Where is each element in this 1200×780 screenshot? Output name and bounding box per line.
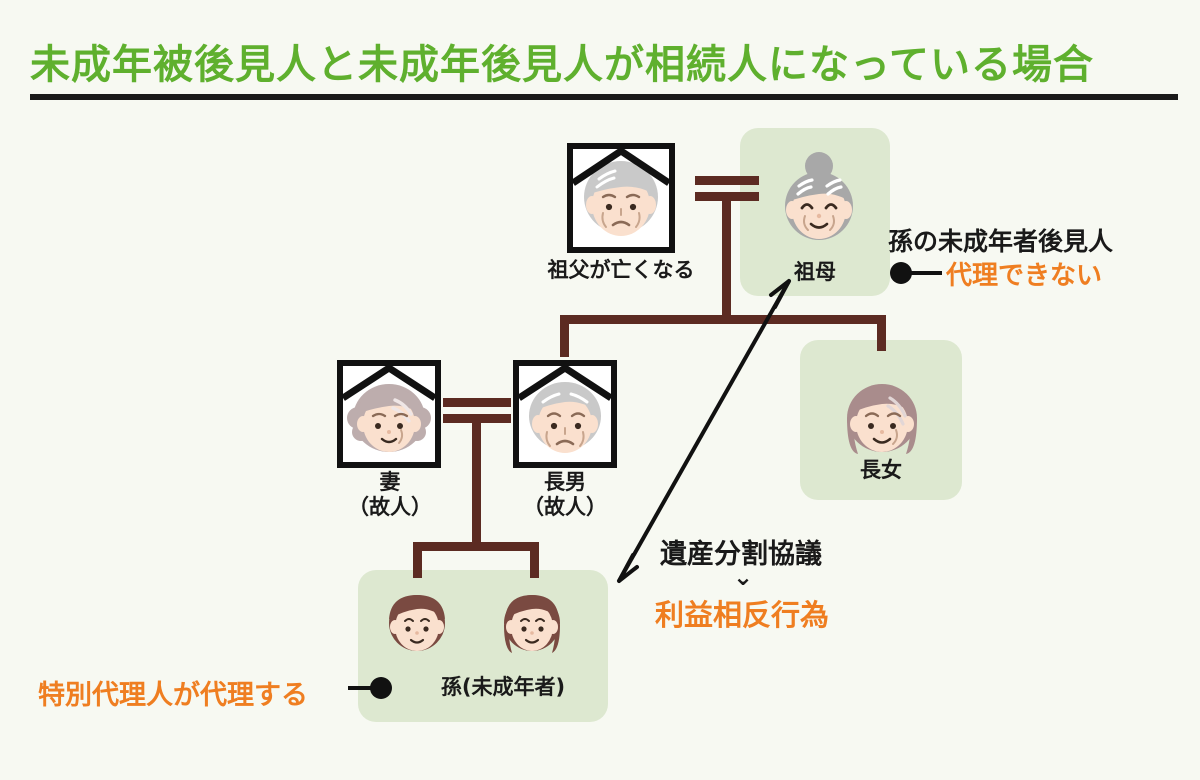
marriage-bar-mid-upper bbox=[443, 398, 511, 407]
division-chevron-icon: ⌄ bbox=[733, 563, 753, 591]
drop-to-granddaughter bbox=[530, 542, 539, 578]
portrait-grandfather bbox=[567, 143, 675, 253]
label-wife-name: 妻 bbox=[380, 470, 401, 494]
portrait-grandson bbox=[381, 583, 453, 659]
drop-to-grandson bbox=[413, 542, 422, 578]
label-wife: 妻 （故人） bbox=[320, 470, 460, 520]
label-eldest-son-name: 長男 bbox=[544, 470, 586, 494]
guardian-title: 孫の未成年者後見人 bbox=[888, 222, 1113, 258]
guardian-leader-line bbox=[910, 271, 942, 275]
portrait-grandmother bbox=[773, 150, 865, 250]
guardian-result: 代理できない bbox=[946, 255, 1102, 292]
drop-to-eldest-daughter bbox=[877, 315, 886, 351]
descent-line-mid bbox=[472, 414, 481, 542]
page-title: 未成年被後見人と未成年後見人が相続人になっている場合 bbox=[30, 32, 1094, 90]
guardian-leader-dot bbox=[890, 262, 912, 284]
label-eldest-daughter: 長女 bbox=[800, 458, 962, 483]
portrait-wife bbox=[337, 360, 441, 468]
drop-to-eldest-son bbox=[560, 315, 569, 357]
label-grandchildren: 孫(未成年者) bbox=[398, 675, 608, 700]
portrait-eldest-daughter bbox=[836, 366, 928, 462]
marriage-bar-top-upper bbox=[695, 176, 759, 185]
special-agent-leader-dot bbox=[370, 677, 392, 699]
division-result: 利益相反行為 bbox=[655, 592, 829, 634]
title-underline bbox=[30, 94, 1178, 100]
diagram-canvas: 未成年被後見人と未成年後見人が相続人になっている場合 bbox=[0, 0, 1200, 780]
label-wife-sub: （故人） bbox=[348, 495, 432, 519]
grandchild-bar bbox=[413, 542, 539, 551]
special-agent-label: 特別代理人が代理する bbox=[38, 673, 308, 712]
portrait-granddaughter bbox=[496, 583, 568, 659]
